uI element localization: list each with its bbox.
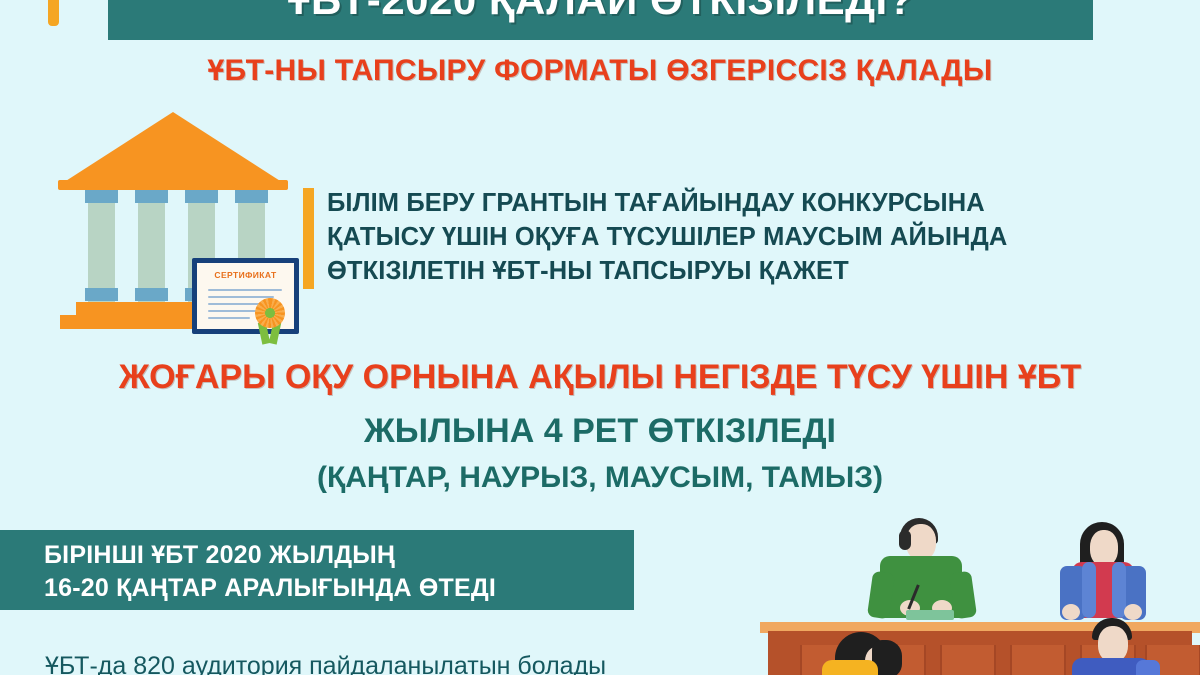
page-subtitle: ҰБТ-НЫ ТАПСЫРУ ФОРМАТЫ ӨЗГЕРІССІЗ ҚАЛАДЫ (0, 54, 1200, 88)
paper-sheet (906, 610, 954, 620)
hair-side (899, 530, 911, 550)
column-capital (235, 190, 268, 203)
paragraph-line: ҚАТЫСУ ҮШІН ОҚУҒА ТҮСУШІЛЕР МАУСЫМ АЙЫНД… (327, 220, 1117, 254)
column-capital (185, 190, 218, 203)
paragraph-line: БІЛІМ БЕРУ ГРАНТЫН ТАҒАЙЫНДАУ КОНКУРСЫНА (327, 186, 1117, 220)
arm-right (1136, 660, 1160, 675)
torso (822, 660, 878, 675)
certificate-text-line (208, 289, 282, 291)
months-list: (ҚАҢТАР, НАУРЫЗ, МАУСЫМ, ТАМЫЗ) (0, 461, 1200, 495)
paragraph-accent-bar (303, 188, 314, 289)
jacket-lapel-left (1082, 562, 1096, 618)
top-accent-tick (48, 0, 59, 26)
building-roof (58, 112, 288, 186)
desk-panel-segment (940, 645, 996, 675)
certificate-icon: СЕРТИФИКАТ (192, 258, 299, 334)
page-title: ҰБТ-2020 ҚАЛАЙ ӨТКІЗІЛЕДІ? (108, 0, 1093, 24)
certificate-title: СЕРТИФИКАТ (197, 270, 294, 280)
hand-right (1124, 604, 1142, 620)
certificate-text-line (208, 317, 250, 319)
head (1098, 626, 1128, 662)
head (1090, 530, 1118, 566)
paid-admission-headline: ЖОҒАРЫ ОҚУ ОРНЫНА АҚЫЛЫ НЕГІЗДЕ ТҮСУ ҮШІ… (0, 358, 1200, 397)
paragraph-line: ӨТКІЗІЛЕТІН ҰБТ-НЫ ТАПСЫРУЫ ҚАЖЕТ (327, 254, 1117, 288)
auditorium-footnote: ҰБТ-да 820 аудитория пайдаланылатын бола… (45, 652, 606, 675)
students-illustration (760, 500, 1200, 675)
hand-left (1062, 604, 1080, 620)
seal-rosette (255, 298, 285, 328)
column-base (135, 288, 168, 301)
desk-panel-segment (1010, 645, 1066, 675)
certificate-seal-icon (255, 298, 285, 328)
building-roof-lip (58, 180, 288, 190)
certificate-text-line (208, 310, 258, 312)
first-exam-date-text: БІРІНШІ ҰБТ 2020 ЖЫЛДЫҢ 16-20 ҚАҢТАР АРА… (44, 539, 624, 605)
grant-requirement-paragraph: БІЛІМ БЕРУ ГРАНТЫН ТАҒАЙЫНДАУ КОНКУРСЫНА… (327, 186, 1117, 288)
date-line: БІРІНШІ ҰБТ 2020 ЖЫЛДЫҢ (44, 539, 624, 572)
column-capital (85, 190, 118, 203)
infographic-canvas: ҰБТ-2020 ҚАЛАЙ ӨТКІЗІЛЕДІ? ҰБТ-НЫ ТАПСЫР… (0, 0, 1200, 675)
frequency-headline: ЖЫЛЫНА 4 РЕТ ӨТКІЗІЛЕДІ (0, 412, 1200, 451)
date-line: 16-20 ҚАҢТАР АРАЛЫҒЫНДА ӨТЕДІ (44, 572, 624, 605)
column-capital (135, 190, 168, 203)
column-base (85, 288, 118, 301)
